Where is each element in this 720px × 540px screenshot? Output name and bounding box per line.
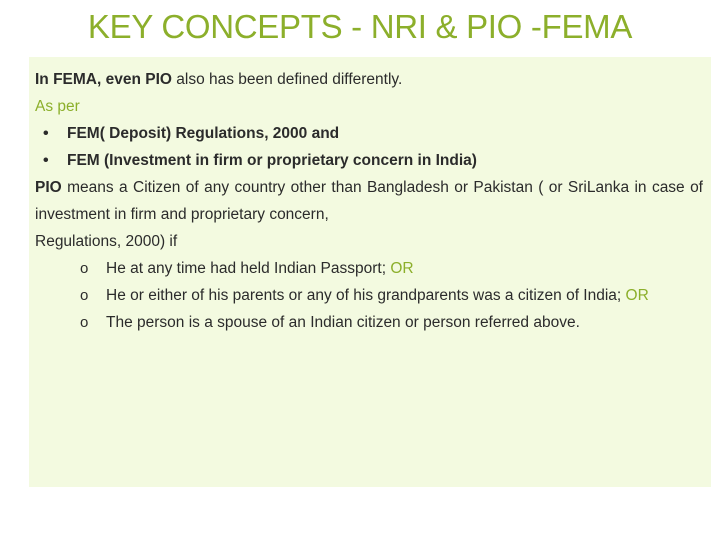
as-per-label: As per	[35, 93, 705, 120]
slide: KEY CONCEPTS - NRI & PIO -FEMA In FEMA, …	[0, 0, 720, 540]
list-item: oHe or either of his parents or any of h…	[35, 282, 705, 309]
bullet-circle-icon: o	[80, 282, 88, 309]
intro-bold-text: In FEMA, even PIO	[35, 71, 172, 88]
definition-last-line: Regulations, 2000) if	[35, 228, 705, 255]
list-item-label: FEM (Investment in firm or proprietary c…	[67, 152, 477, 169]
list-item: •FEM (Investment in firm or proprietary …	[35, 147, 705, 174]
definition-paragraph: PIO means a Citizen of any country other…	[35, 174, 705, 228]
list-item-label: FEM( Deposit) Regulations, 2000 and	[67, 125, 339, 142]
list-item-label: The person is a spouse of an Indian citi…	[106, 314, 580, 331]
list-item-label: He or either of his parents or any of hi…	[106, 287, 621, 304]
bullet-circle-icon: o	[80, 309, 88, 336]
list-item-accent-suffix: OR	[390, 260, 413, 277]
intro-line: In FEMA, even PIO also has been defined …	[35, 66, 705, 93]
list-item: oThe person is a spouse of an Indian cit…	[35, 309, 705, 336]
slide-body: In FEMA, even PIO also has been defined …	[35, 66, 705, 336]
list-item: oHe at any time had held Indian Passport…	[35, 255, 705, 282]
bullet-dot-icon: •	[43, 120, 49, 147]
bullet-dot-icon: •	[43, 147, 49, 174]
intro-regular-text: also has been defined differently.	[172, 71, 402, 88]
definition-text: means a Citizen of any country other tha…	[35, 179, 703, 223]
list-item-label: He at any time had held Indian Passport;	[106, 260, 386, 277]
list-item-accent-suffix: OR	[626, 287, 649, 304]
slide-title: KEY CONCEPTS - NRI & PIO -FEMA	[0, 6, 720, 48]
bullet-circle-icon: o	[80, 255, 88, 282]
definition-bold-term: PIO	[35, 179, 62, 196]
content-panel: In FEMA, even PIO also has been defined …	[29, 57, 711, 487]
list-item: •FEM( Deposit) Regulations, 2000 and	[35, 120, 705, 147]
